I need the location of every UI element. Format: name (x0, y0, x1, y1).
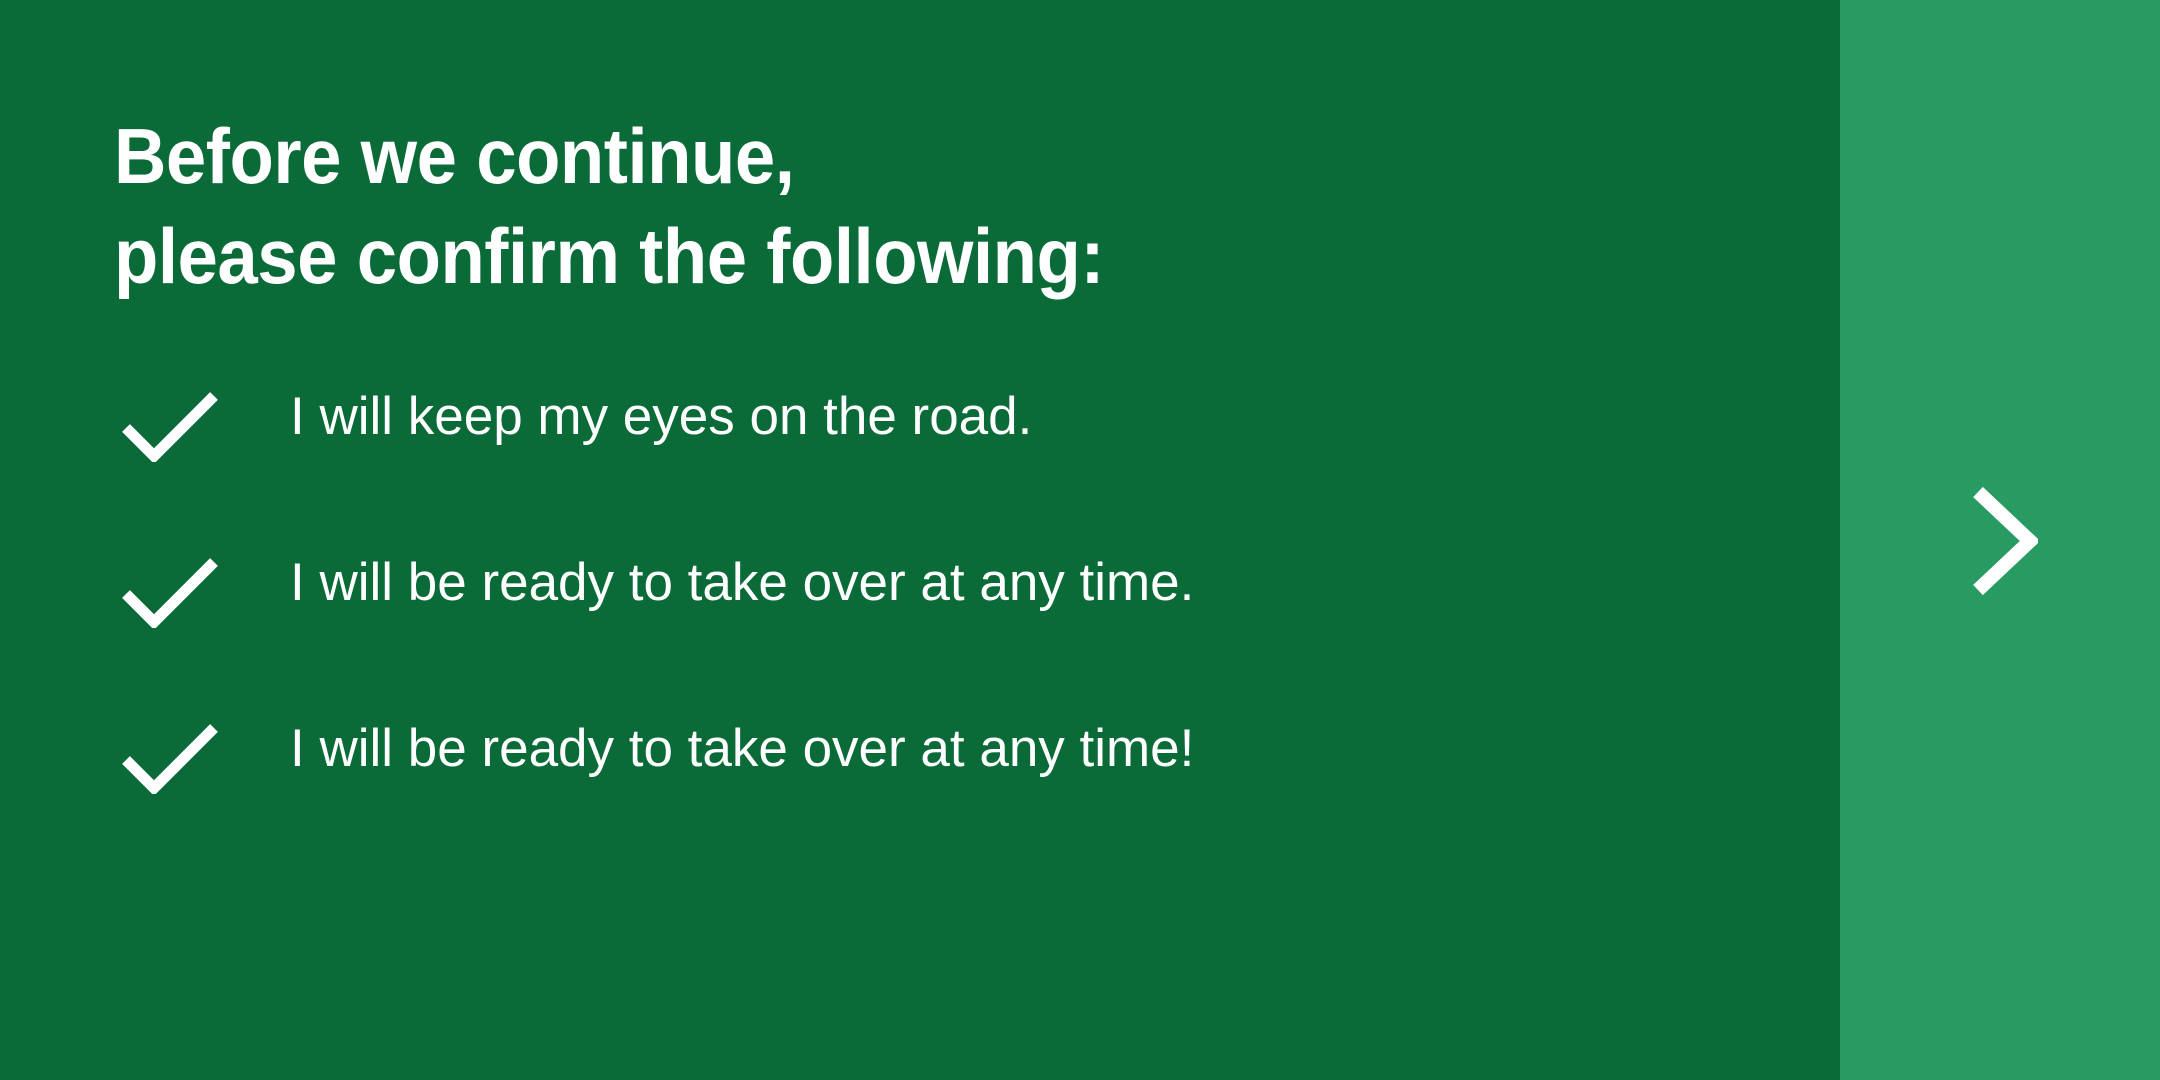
confirmation-checklist: I will keep my eyes on the road. I will … (114, 382, 1714, 880)
check-icon (114, 548, 290, 628)
checklist-item-label: I will be ready to take over at any time… (290, 714, 1194, 782)
checklist-item-label: I will keep my eyes on the road. (290, 382, 1032, 450)
heading-line-2: please confirm the following: (114, 206, 1509, 306)
heading-line-1: Before we continue, (114, 106, 1509, 206)
page-heading: Before we continue, please confirm the f… (114, 106, 1614, 306)
checklist-item[interactable]: I will be ready to take over at any time… (114, 714, 1714, 880)
chevron-right-icon[interactable] (1840, 487, 2160, 595)
checklist-item-label: I will be ready to take over at any time… (290, 548, 1194, 616)
check-icon (114, 714, 290, 794)
main-panel: Before we continue, please confirm the f… (0, 0, 1840, 1080)
check-icon (114, 382, 290, 462)
checklist-item[interactable]: I will be ready to take over at any time… (114, 548, 1714, 714)
confirmation-screen: Before we continue, please confirm the f… (0, 0, 2160, 1080)
checklist-item[interactable]: I will keep my eyes on the road. (114, 382, 1714, 548)
next-button[interactable] (1840, 0, 2160, 1080)
